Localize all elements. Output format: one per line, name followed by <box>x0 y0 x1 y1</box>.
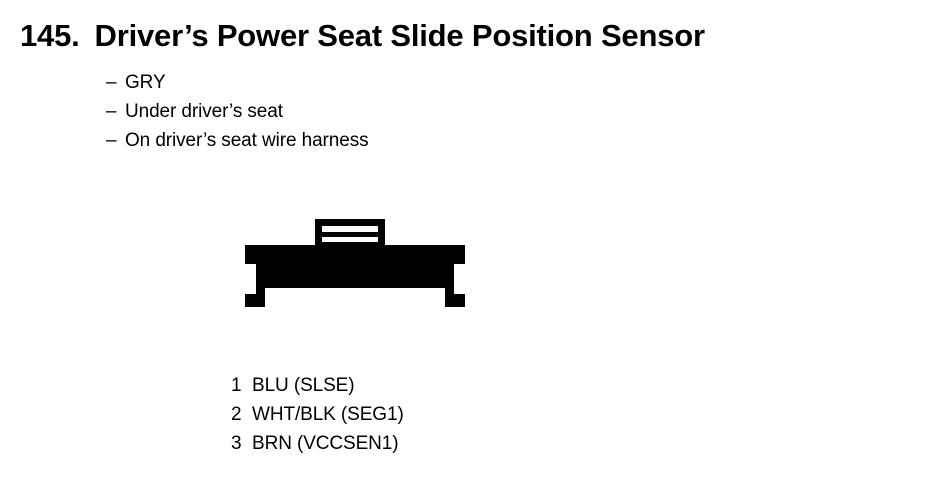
pinout-row: 3 BRN (VCCSEN1) <box>231 429 404 458</box>
pinout-pin-number: 2 <box>231 400 252 429</box>
notes-list: – GRY – Under driver’s seat – On driver’… <box>106 68 369 155</box>
pinout-pin-description: BLU (SLSE) <box>252 371 354 400</box>
dash-icon: – <box>106 97 125 126</box>
pinout-row: 2 WHT/BLK (SEG1) <box>231 400 404 429</box>
page-title-text: Driver’s Power Seat Slide Position Senso… <box>95 20 705 51</box>
page-title-number: 145. <box>20 20 80 51</box>
note-item-label: GRY <box>125 68 166 97</box>
note-item: – GRY <box>106 68 369 97</box>
note-item-label: On driver’s seat wire harness <box>125 126 369 155</box>
cavity-number-3: 3 <box>416 258 425 277</box>
note-item-label: Under driver’s seat <box>125 97 283 126</box>
dash-icon: – <box>106 68 125 97</box>
locking-tab-icon <box>315 219 385 248</box>
pinout-row: 1 BLU (SLSE) <box>231 371 404 400</box>
connector-diagram: 1 2 3 <box>240 212 470 312</box>
pinout-list: 1 BLU (SLSE) 2 WHT/BLK (SEG1) 3 BRN (VCC… <box>231 371 404 458</box>
pinout-pin-description: BRN (VCCSEN1) <box>252 429 399 458</box>
pinout-pin-number: 3 <box>231 429 252 458</box>
cavity-number-2: 2 <box>346 258 355 277</box>
dash-icon: – <box>106 126 125 155</box>
cavity-number-1: 1 <box>284 258 293 277</box>
pinout-pin-description: WHT/BLK (SEG1) <box>252 400 404 429</box>
note-item: – Under driver’s seat <box>106 97 369 126</box>
note-item: – On driver’s seat wire harness <box>106 126 369 155</box>
page-title: 145. Driver’s Power Seat Slide Position … <box>20 20 705 51</box>
pinout-pin-number: 1 <box>231 371 252 400</box>
